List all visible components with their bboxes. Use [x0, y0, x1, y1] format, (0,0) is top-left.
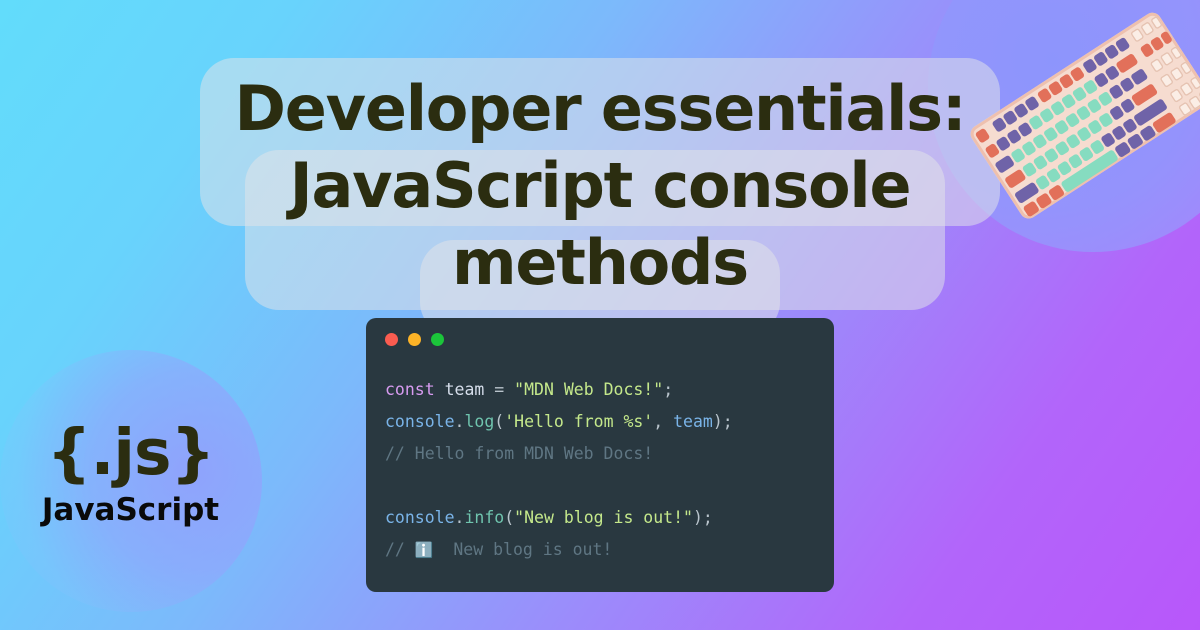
code-token: console: [385, 508, 455, 527]
code-token: );: [693, 508, 713, 527]
code-line: // Hello from MDN Web Docs!: [385, 438, 834, 470]
javascript-logo-mark: {.js}: [28, 418, 233, 488]
code-token: .: [455, 508, 465, 527]
code-token: ,: [653, 412, 673, 431]
code-token: team: [673, 412, 713, 431]
blog-banner: Developer essentials: JavaScript console…: [0, 0, 1200, 630]
maximize-dot[interactable]: [431, 333, 444, 346]
code-token: 'Hello from %s': [504, 412, 653, 431]
code-token: team: [445, 380, 485, 399]
code-token: console: [385, 412, 455, 431]
code-token: ℹ️: [415, 541, 434, 559]
code-line: // ℹ️ New blog is out!: [385, 534, 834, 566]
keyboard-key: [975, 128, 991, 144]
code-token: .: [455, 412, 465, 431]
title-line-2: JavaScript console: [290, 149, 911, 222]
code-line: console.info("New blog is out!");: [385, 502, 834, 534]
code-token: // Hello from MDN Web Docs!: [385, 444, 653, 463]
code-token: ;: [663, 380, 673, 399]
minimize-dot[interactable]: [408, 333, 421, 346]
page-title: Developer essentials: JavaScript console…: [200, 70, 1000, 301]
code-token: New blog is out!: [434, 540, 613, 559]
code-token: info: [464, 508, 504, 527]
code-token: (: [494, 412, 504, 431]
code-snippet: const team = "MDN Web Docs!";console.log…: [366, 360, 834, 566]
keyboard-key: [1004, 169, 1026, 189]
code-window: const team = "MDN Web Docs!";console.log…: [366, 318, 834, 592]
code-line: const team = "MDN Web Docs!";: [385, 374, 834, 406]
keyboard-body: [967, 9, 1200, 222]
code-token: "MDN Web Docs!": [514, 380, 663, 399]
code-window-titlebar: [366, 318, 834, 360]
title-line-3: methods: [452, 226, 748, 299]
code-token: "New blog is out!": [514, 508, 693, 527]
javascript-logo-wordmark: JavaScript: [28, 488, 233, 532]
code-line: [385, 470, 834, 502]
code-line: console.log('Hello from %s', team);: [385, 406, 834, 438]
close-dot[interactable]: [385, 333, 398, 346]
code-token: log: [464, 412, 494, 431]
code-token: //: [385, 540, 415, 559]
title-line-1: Developer essentials:: [235, 72, 966, 145]
keyboard-key: [1115, 53, 1138, 74]
javascript-logo: {.js} JavaScript: [28, 418, 233, 532]
code-token: const: [385, 380, 435, 399]
code-token: =: [484, 380, 514, 399]
code-token: (: [504, 508, 514, 527]
code-token: );: [713, 412, 733, 431]
code-token: [435, 380, 445, 399]
